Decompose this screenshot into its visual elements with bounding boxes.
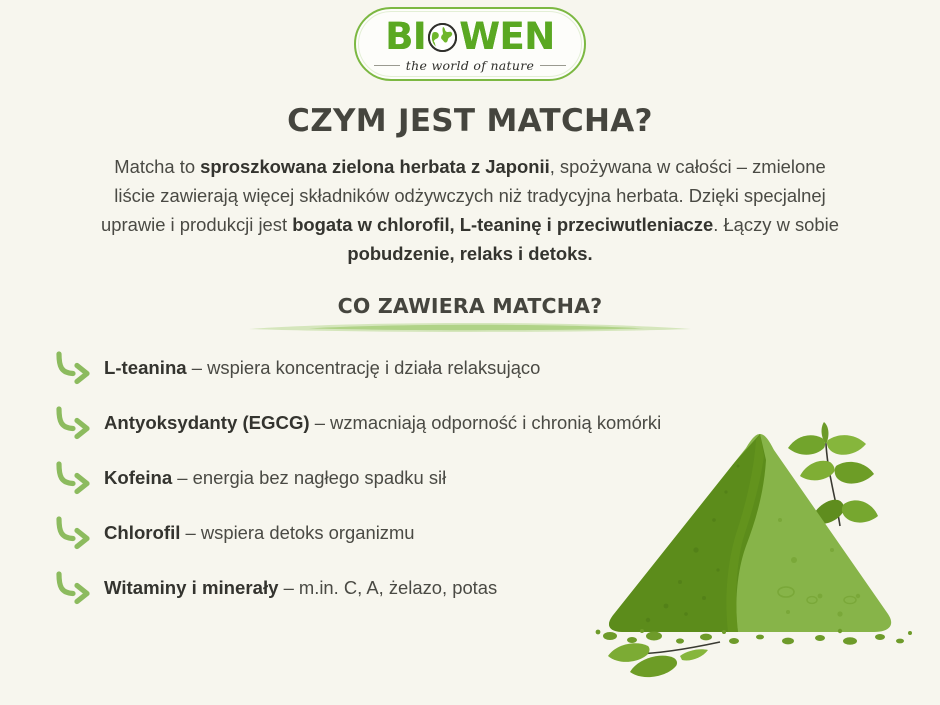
tagline-dash-left xyxy=(374,65,400,66)
intro-bold-1: sproszkowana zielona herbata z Japonii xyxy=(200,156,550,177)
list-item-label: Chlorofil xyxy=(104,522,180,543)
brand-logo: BI WEN the world of nature xyxy=(354,7,586,81)
page-title: CZYM JEST MATCHA? xyxy=(0,103,940,139)
curved-arrow-icon xyxy=(52,458,98,498)
list-item-text: Antyoksydanty (EGCG) – wzmacniają odporn… xyxy=(104,412,661,434)
intro-text-3: . Łączy w sobie xyxy=(713,214,839,235)
curved-arrow-icon xyxy=(52,403,98,443)
intro-text-1: Matcha to xyxy=(114,156,200,177)
logo-wordmark: BI WEN xyxy=(385,18,555,55)
list-item-text: L-teanina – wspiera koncentrację i dział… xyxy=(104,357,540,379)
logo-word-part1: BI xyxy=(385,18,426,55)
list-item: L-teanina – wspiera koncentrację i dział… xyxy=(52,340,812,395)
list-item-label: Antyoksydanty (EGCG) xyxy=(104,412,310,433)
list-item-desc: – wspiera detoks organizmu xyxy=(180,522,414,543)
section-subtitle: CO ZAWIERA MATCHA? xyxy=(0,294,940,318)
list-item-label: Witaminy i minerały xyxy=(104,577,278,598)
curved-arrow-icon xyxy=(52,568,98,608)
logo-content: BI WEN the world of nature xyxy=(374,16,566,73)
list-item-desc: – wspiera koncentrację i działa relaksuj… xyxy=(187,357,541,378)
list-item-label: Kofeina xyxy=(104,467,172,488)
list-item-text: Witaminy i minerały – m.in. C, A, żelazo… xyxy=(104,577,497,599)
logo-tagline: the world of nature xyxy=(406,58,534,73)
logo-tagline-row: the world of nature xyxy=(374,58,566,73)
logo-word-part2: WEN xyxy=(459,18,555,55)
leaf-divider xyxy=(249,320,691,334)
curved-arrow-icon xyxy=(52,513,98,553)
intro-paragraph: Matcha to sproszkowana zielona herbata z… xyxy=(95,152,845,268)
matcha-powder-mound-illustration xyxy=(588,400,940,700)
intro-bold-3: pobudzenie, relaks i detoks. xyxy=(347,243,592,264)
intro-bold-2: bogata w chlorofil, L-teaninę i przeciwu… xyxy=(292,214,713,235)
tea-leaf-sprig-bottom xyxy=(608,642,720,677)
list-item-text: Chlorofil – wspiera detoks organizmu xyxy=(104,522,415,544)
list-item-label: L-teanina xyxy=(104,357,187,378)
list-item-desc: – energia bez nagłego spadku sił xyxy=(172,467,446,488)
globe-icon xyxy=(427,22,458,53)
curved-arrow-icon xyxy=(52,348,98,388)
tagline-dash-right xyxy=(540,65,566,66)
list-item-desc: – m.in. C, A, żelazo, potas xyxy=(278,577,497,598)
list-item-text: Kofeina – energia bez nagłego spadku sił xyxy=(104,467,446,489)
